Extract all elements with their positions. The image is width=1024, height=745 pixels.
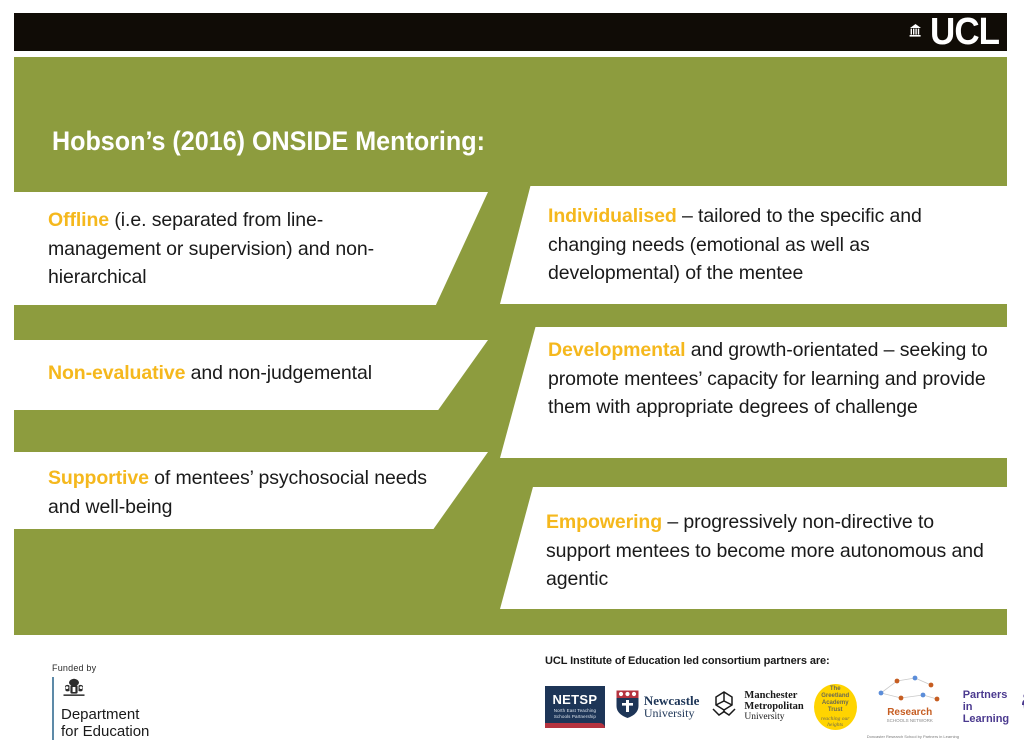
panel-keyword: Supportive — [48, 467, 149, 489]
panel-keyword: Developmental — [548, 339, 685, 361]
mmu-line-3: University — [744, 712, 803, 723]
panel-keyword: Empowering — [546, 511, 662, 533]
greetland-line-4: Trust — [828, 707, 843, 713]
onside-panel-empowering: Empowering – progressively non-directive… — [500, 487, 1007, 609]
funder-name-line-1: Department — [61, 706, 139, 723]
pil-line-1: Partners — [963, 689, 1017, 701]
partner-logo-greetland-academy-trust: The Greetland Academy Trust reaching our… — [814, 684, 857, 730]
mmu-knot-icon — [709, 689, 739, 724]
partner-logo-manchester-metropolitan-university: Manchester Metropolitan University — [709, 689, 803, 724]
netsp-wordmark: NETSP — [552, 693, 597, 706]
greetland-line-1: The — [830, 686, 841, 692]
research-schools-wordmark: Research — [867, 708, 953, 718]
panel-text: Offline (i.e. separated from line-manage… — [48, 206, 418, 292]
panel-keyword: Individualised — [548, 205, 677, 227]
onside-panel-supportive: Supportive of mentees’ psychosocial need… — [14, 452, 488, 529]
royal-crest-icon — [61, 686, 87, 703]
partner-logo-netsp: NETSP North East Teaching Schools Partne… — [545, 686, 605, 728]
onside-panel-offline: Offline (i.e. separated from line-manage… — [14, 192, 488, 305]
partner-logo-partners-in-learning: Partners in Learning — [963, 689, 1024, 725]
pil-wordmark: Partners in Learning — [963, 689, 1017, 725]
ucl-wordmark: UCL — [930, 13, 999, 51]
ucl-logo: UCL — [909, 14, 999, 51]
panel-keyword: Non-evaluative — [48, 362, 185, 384]
onside-panel-non-evaluative: Non-evaluative and non-judgemental — [14, 340, 488, 410]
pil-line-2: in Learning — [963, 701, 1017, 725]
funder-name-line-2: for Education — [61, 723, 149, 740]
panel-keyword: Offline — [48, 209, 109, 231]
research-schools-caption: Doncaster Research School by Partners in… — [867, 734, 953, 740]
page-title: Hobson’s (2016) ONSIDE Mentoring: — [52, 125, 485, 157]
mmu-line-1: Manchester — [744, 690, 803, 701]
network-nodes-icon — [867, 690, 953, 707]
newcastle-shield-icon — [615, 689, 640, 724]
netsp-subtitle-line-2: Schools Partnership — [554, 714, 596, 719]
slide-footer: Funded by — [0, 635, 1024, 745]
greetland-wordmark: The Greetland Academy Trust — [821, 686, 849, 714]
mmu-wordmark: Manchester Metropolitan University — [744, 690, 803, 723]
partner-logo-research-schools-network: Research SCHOOLS NETWORK Doncaster Resea… — [867, 673, 953, 740]
onside-panel-individualised: Individualised – tailored to the specifi… — [500, 186, 1007, 304]
panel-text: Developmental and growth-orientated – se… — [548, 336, 988, 422]
newcastle-line-2: University — [644, 707, 700, 720]
consortium-partners-row: NETSP North East Teaching Schools Partne… — [545, 673, 1024, 740]
ucl-portico-icon — [909, 24, 922, 42]
header-bar: UCL — [14, 13, 1007, 51]
panel-text: Empowering – progressively non-directive… — [546, 508, 986, 594]
panel-text: Individualised – tailored to the specifi… — [548, 202, 978, 288]
slide: UCL Hobson’s (2016) ONSIDE Mentoring: Of… — [0, 0, 1024, 745]
panel-text: Supportive of mentees’ psychosocial need… — [48, 464, 448, 521]
greetland-tagline: reaching our heights — [814, 716, 857, 728]
mmu-line-2: Metropolitan — [744, 701, 803, 712]
funder-rule — [52, 677, 54, 740]
greetland-line-2: Greetland — [821, 693, 849, 699]
netsp-subtitle-line-1: North East Teaching — [554, 708, 596, 713]
netsp-swoosh-icon — [545, 723, 605, 728]
greetland-line-3: Academy — [822, 700, 849, 706]
research-schools-subtitle: SCHOOLS NETWORK — [867, 718, 953, 724]
netsp-subtitle: North East Teaching Schools Partnership — [554, 708, 596, 720]
partner-logo-newcastle-university: Newcastle University — [615, 689, 700, 724]
people-icon — [1019, 691, 1024, 722]
panel-text: Non-evaluative and non-judgemental — [48, 359, 448, 388]
newcastle-wordmark: Newcastle University — [644, 694, 700, 720]
funded-by-label: Funded by — [52, 663, 149, 673]
newcastle-line-1: Newcastle — [644, 694, 700, 707]
funder-lockup: Funded by — [52, 663, 149, 740]
onside-panel-developmental: Developmental and growth-orientated – se… — [500, 327, 1007, 458]
funder-name: Department for Education — [61, 706, 149, 740]
consortium-partners-label: UCL Institute of Education led consortiu… — [545, 655, 830, 667]
panel-body: and non-judgemental — [185, 362, 372, 384]
